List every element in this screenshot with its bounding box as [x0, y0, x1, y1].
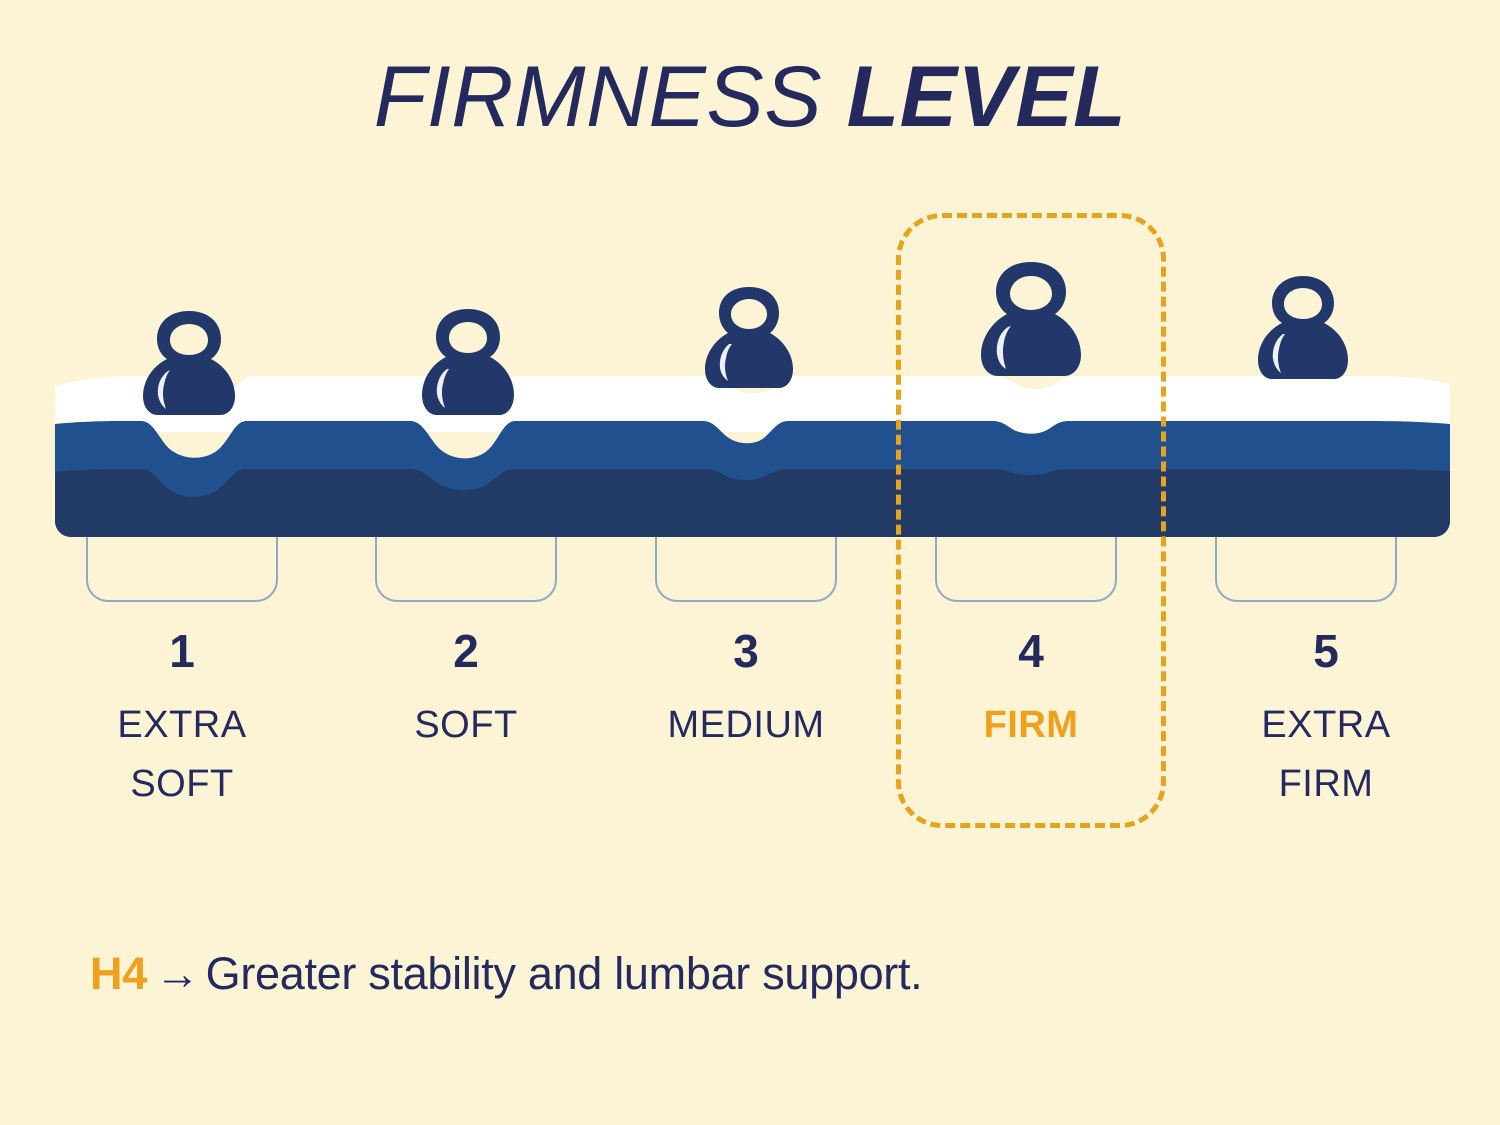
scale-label-line1: SOFT: [331, 696, 601, 755]
scale-label: EXTRA FIRM: [1191, 696, 1461, 814]
scale-label-line2: SOFT: [47, 755, 317, 814]
scale-number: 1: [47, 628, 317, 674]
caption: H4→Greater stability and lumbar support.: [90, 948, 922, 1000]
scale-label: SOFT: [331, 696, 601, 755]
title-part-firmness: FIRMNESS: [374, 49, 822, 145]
arrow-icon: →: [147, 948, 206, 999]
scale-item-3[interactable]: 3 MEDIUM: [611, 628, 881, 755]
scale-item-5[interactable]: 5 EXTRA FIRM: [1191, 628, 1461, 814]
mattress-illustration: [55, 372, 1450, 537]
title-part-level: LEVEL: [847, 49, 1127, 145]
scale-label: EXTRA SOFT: [47, 696, 317, 814]
firmness-scale: 1 EXTRA SOFT 2 SOFT 3 MEDIUM 4 FIRM 5 EX…: [0, 628, 1500, 838]
kettlebell-icon: [1253, 272, 1353, 387]
bracket-group: [0, 530, 1500, 620]
scale-label-line1: MEDIUM: [611, 696, 881, 755]
bracket-level-2: [375, 534, 557, 602]
caption-text: Greater stability and lumbar support.: [206, 948, 923, 999]
bracket-level-1: [86, 534, 278, 602]
scale-number: 2: [331, 628, 601, 674]
scale-label-line1: EXTRA: [47, 696, 317, 755]
scale-item-2[interactable]: 2 SOFT: [331, 628, 601, 755]
bracket-level-3: [655, 534, 837, 602]
bracket-level-5: [1215, 534, 1397, 602]
selected-level-highlight[interactable]: [896, 213, 1166, 828]
scale-number: 3: [611, 628, 881, 674]
scale-label-line2: FIRM: [1191, 755, 1461, 814]
scale-label: MEDIUM: [611, 696, 881, 755]
scale-number: 5: [1191, 628, 1461, 674]
page-title: FIRMNESS LEVEL: [0, 52, 1500, 142]
scale-label-line1: EXTRA: [1191, 696, 1461, 755]
scale-item-1[interactable]: 1 EXTRA SOFT: [47, 628, 317, 814]
caption-code: H4: [90, 948, 147, 999]
